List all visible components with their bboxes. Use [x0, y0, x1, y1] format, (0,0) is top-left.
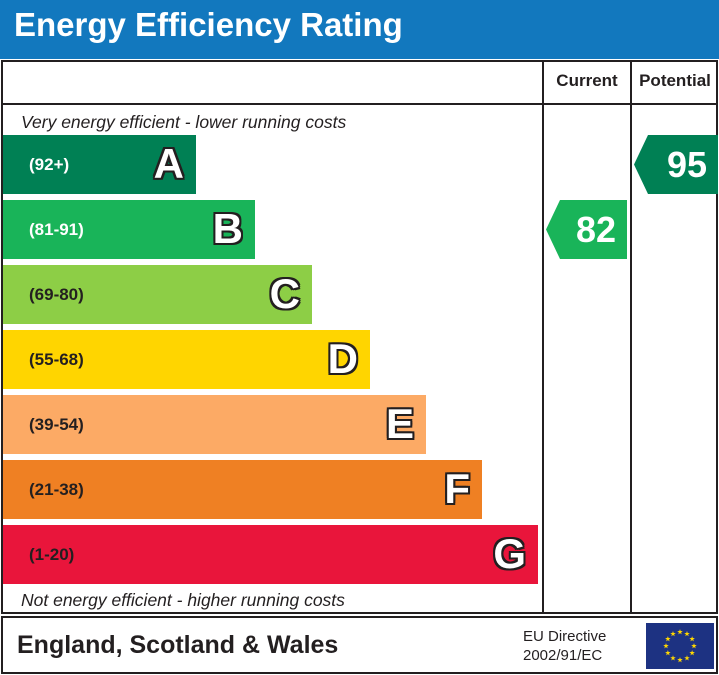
band-letter-a: A — [154, 143, 184, 185]
eu-directive-label: EU Directive 2002/91/EC — [523, 627, 633, 665]
band-letter-e: E — [386, 403, 414, 445]
band-d: (55-68)D — [3, 330, 370, 389]
band-c: (69-80)C — [3, 265, 312, 324]
chart-footer: England, Scotland & Wales EU Directive 2… — [1, 616, 718, 674]
caption-not-efficient: Not energy efficient - higher running co… — [21, 590, 345, 611]
band-range-g: (1-20) — [29, 545, 74, 565]
eu-flag-icon — [646, 623, 714, 669]
band-range-d: (55-68) — [29, 350, 84, 370]
header-divider — [3, 103, 716, 105]
band-e: (39-54)E — [3, 395, 426, 454]
region-label: England, Scotland & Wales — [17, 631, 338, 660]
eu-directive-line2: 2002/91/EC — [523, 646, 633, 665]
energy-efficiency-rating-chart: Energy Efficiency Rating Current Potenti… — [0, 0, 719, 675]
column-divider-current — [542, 62, 544, 612]
page-title: Energy Efficiency Rating — [14, 6, 403, 44]
band-letter-b: B — [213, 208, 243, 250]
chart-title-bar: Energy Efficiency Rating — [0, 0, 719, 59]
rating-arrow-current: 82 — [546, 200, 627, 259]
band-range-e: (39-54) — [29, 415, 84, 435]
band-a: (92+)A — [3, 135, 196, 194]
band-letter-g: G — [493, 533, 526, 575]
band-letter-d: D — [328, 338, 358, 380]
band-f: (21-38)F — [3, 460, 482, 519]
eu-directive-line1: EU Directive — [523, 627, 633, 646]
band-range-a: (92+) — [29, 155, 69, 175]
band-range-b: (81-91) — [29, 220, 84, 240]
column-header-potential: Potential — [632, 71, 718, 91]
rating-arrow-potential: 95 — [634, 135, 718, 194]
column-header-current: Current — [544, 71, 630, 91]
band-letter-f: F — [444, 468, 470, 510]
rating-table: Current Potential Very energy efficient … — [1, 60, 718, 614]
caption-very-efficient: Very energy efficient - lower running co… — [21, 112, 346, 133]
band-range-c: (69-80) — [29, 285, 84, 305]
band-letter-c: C — [270, 273, 300, 315]
band-range-f: (21-38) — [29, 480, 84, 500]
band-g: (1-20)G — [3, 525, 538, 584]
band-list: (92+)A(81-91)B(69-80)C(55-68)D(39-54)E(2… — [3, 135, 540, 585]
band-b: (81-91)B — [3, 200, 255, 259]
column-divider-potential — [630, 62, 632, 612]
